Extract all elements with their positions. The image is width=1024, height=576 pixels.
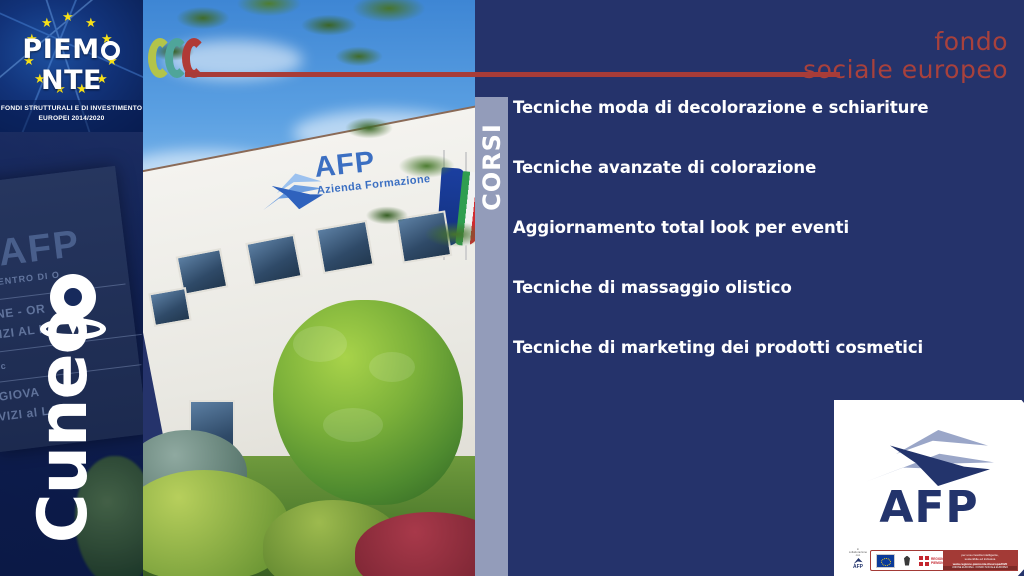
piemonte-eu-logo: ★ ★ ★ ★ ★ ★ ★ ★ ★ ★ ★ PIEMNTE FONDI STRU… [0,0,143,132]
emblem-row: REGIONE PIEMONTE per una crescita intell… [870,550,1018,571]
eu-flag-emblem-icon [876,554,895,568]
afp-wordmark: AFP [856,486,1002,530]
left-column: ★ ★ ★ ★ ★ ★ ★ ★ ★ ★ ★ PIEMNTE FONDI STRU… [0,0,143,576]
caption-line-2: EUROPEI 2014/2020 [0,114,143,124]
funding-partners-bar: in collaborazione con AFP REGIONE PIEMON… [848,546,1018,572]
fondo-line-2: sociale europeo [803,56,1008,84]
wordmark-suffix: NTE [41,65,102,96]
course-item: Tecniche di massaggio olistico [513,278,983,298]
course-item: Tecniche di marketing dei prodotti cosme… [513,338,983,358]
corsi-band: CORSI [475,97,508,576]
regione-cross-icon [919,556,929,566]
repubblica-italiana-emblem-icon [901,555,913,567]
tree-canopy-right [315,90,475,280]
building-photo: AFP Azienda Formazione [143,0,475,576]
corsi-label: CORSI [478,103,506,231]
course-item: Aggiornamento total look per eventi [513,218,983,238]
header-rule [185,72,840,77]
collab-caption: in collaborazione con [848,548,868,557]
afp-corner-logo: AFP in collaborazione con AFP REGIONE PI… [834,400,1024,576]
wordmark-prefix: PIEM [22,34,99,65]
courses-list: Tecniche moda di decolorazione e schiari… [513,98,983,398]
afp-logo-mark: AFP [856,426,1002,530]
caption-line-1: FONDI STRUTTURALI E DI INVESTIMENTO [0,104,143,114]
fondo-line-1: fondo [803,28,1008,56]
sign-line-c: ccc [0,361,7,373]
afp-mini-label: AFP [848,564,868,570]
tagline-block: per una crescita intelligente, sostenibi… [943,551,1017,570]
wordmark-o-ring [101,41,120,60]
course-item: Tecniche avanzate di colorazione [513,158,983,178]
course-item: Tecniche moda di decolorazione e schiari… [513,98,983,118]
eu-fse-strip: UNIONE EUROPEA · FONDO SOCIALE EUROPEO [943,566,1017,570]
slide-root: ★ ★ ★ ★ ★ ★ ★ ★ ★ ★ ★ PIEMNTE FONDI STRU… [0,0,1024,576]
eu-logo-caption: FONDI STRUTTURALI E DI INVESTIMENTO EURO… [0,104,143,124]
piemonte-wordmark: PIEMNTE [0,34,143,96]
tagline-line-2: sostenibile ed inclusiva [946,557,1014,561]
collab-block: in collaborazione con AFP [848,548,868,570]
location-label: Cuneo [30,266,98,576]
location-panel: AFP CENTRO DI O ZIONE - OR ERVIZI AL LA … [0,132,143,576]
